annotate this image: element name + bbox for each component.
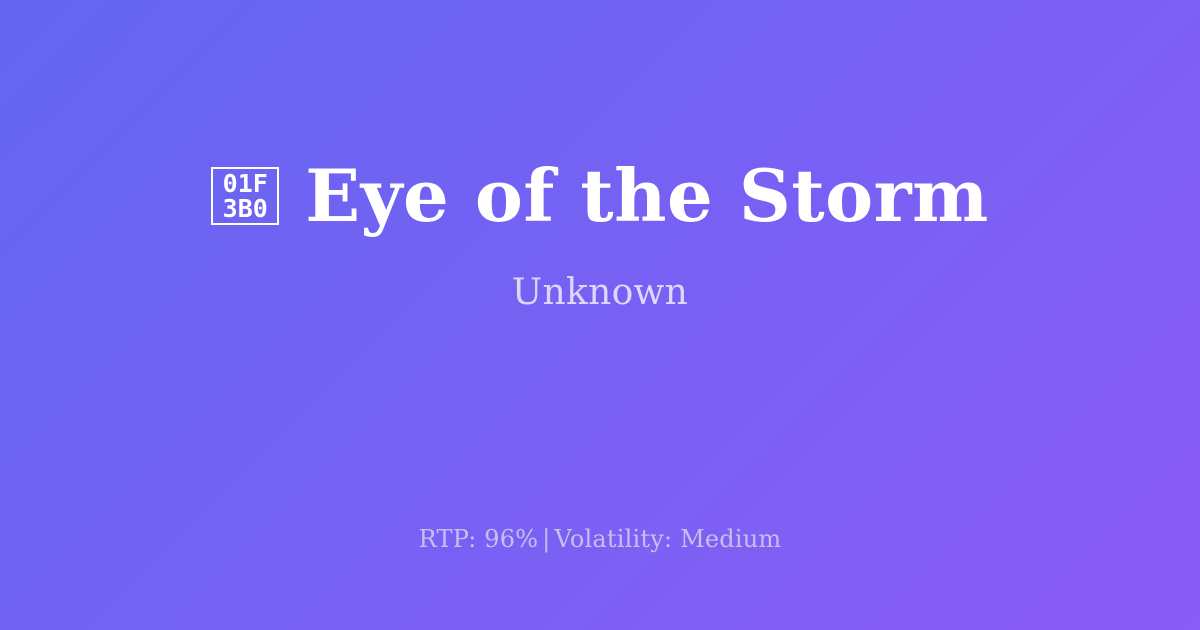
- footer-section: RTP: 96%|Volatility: Medium: [0, 524, 1200, 554]
- volatility-value: Volatility: Medium: [555, 525, 782, 553]
- rtp-value: RTP: 96%: [419, 525, 539, 553]
- open-graph-card: 01F 3B0 Eye of the Storm Unknown RTP: 96…: [0, 0, 1200, 630]
- page-title: Eye of the Storm: [305, 155, 989, 237]
- slot-machine-icon: 01F 3B0: [211, 167, 279, 225]
- codepoint-bottom: 3B0: [223, 196, 268, 221]
- title-row: 01F 3B0 Eye of the Storm: [40, 155, 1160, 237]
- hero-section: 01F 3B0 Eye of the Storm Unknown: [0, 0, 1200, 470]
- game-stats-line: RTP: 96%|Volatility: Medium: [419, 524, 782, 554]
- page-subtitle: Unknown: [512, 271, 688, 315]
- stats-separator: |: [538, 525, 554, 553]
- codepoint-top: 01F: [223, 171, 268, 196]
